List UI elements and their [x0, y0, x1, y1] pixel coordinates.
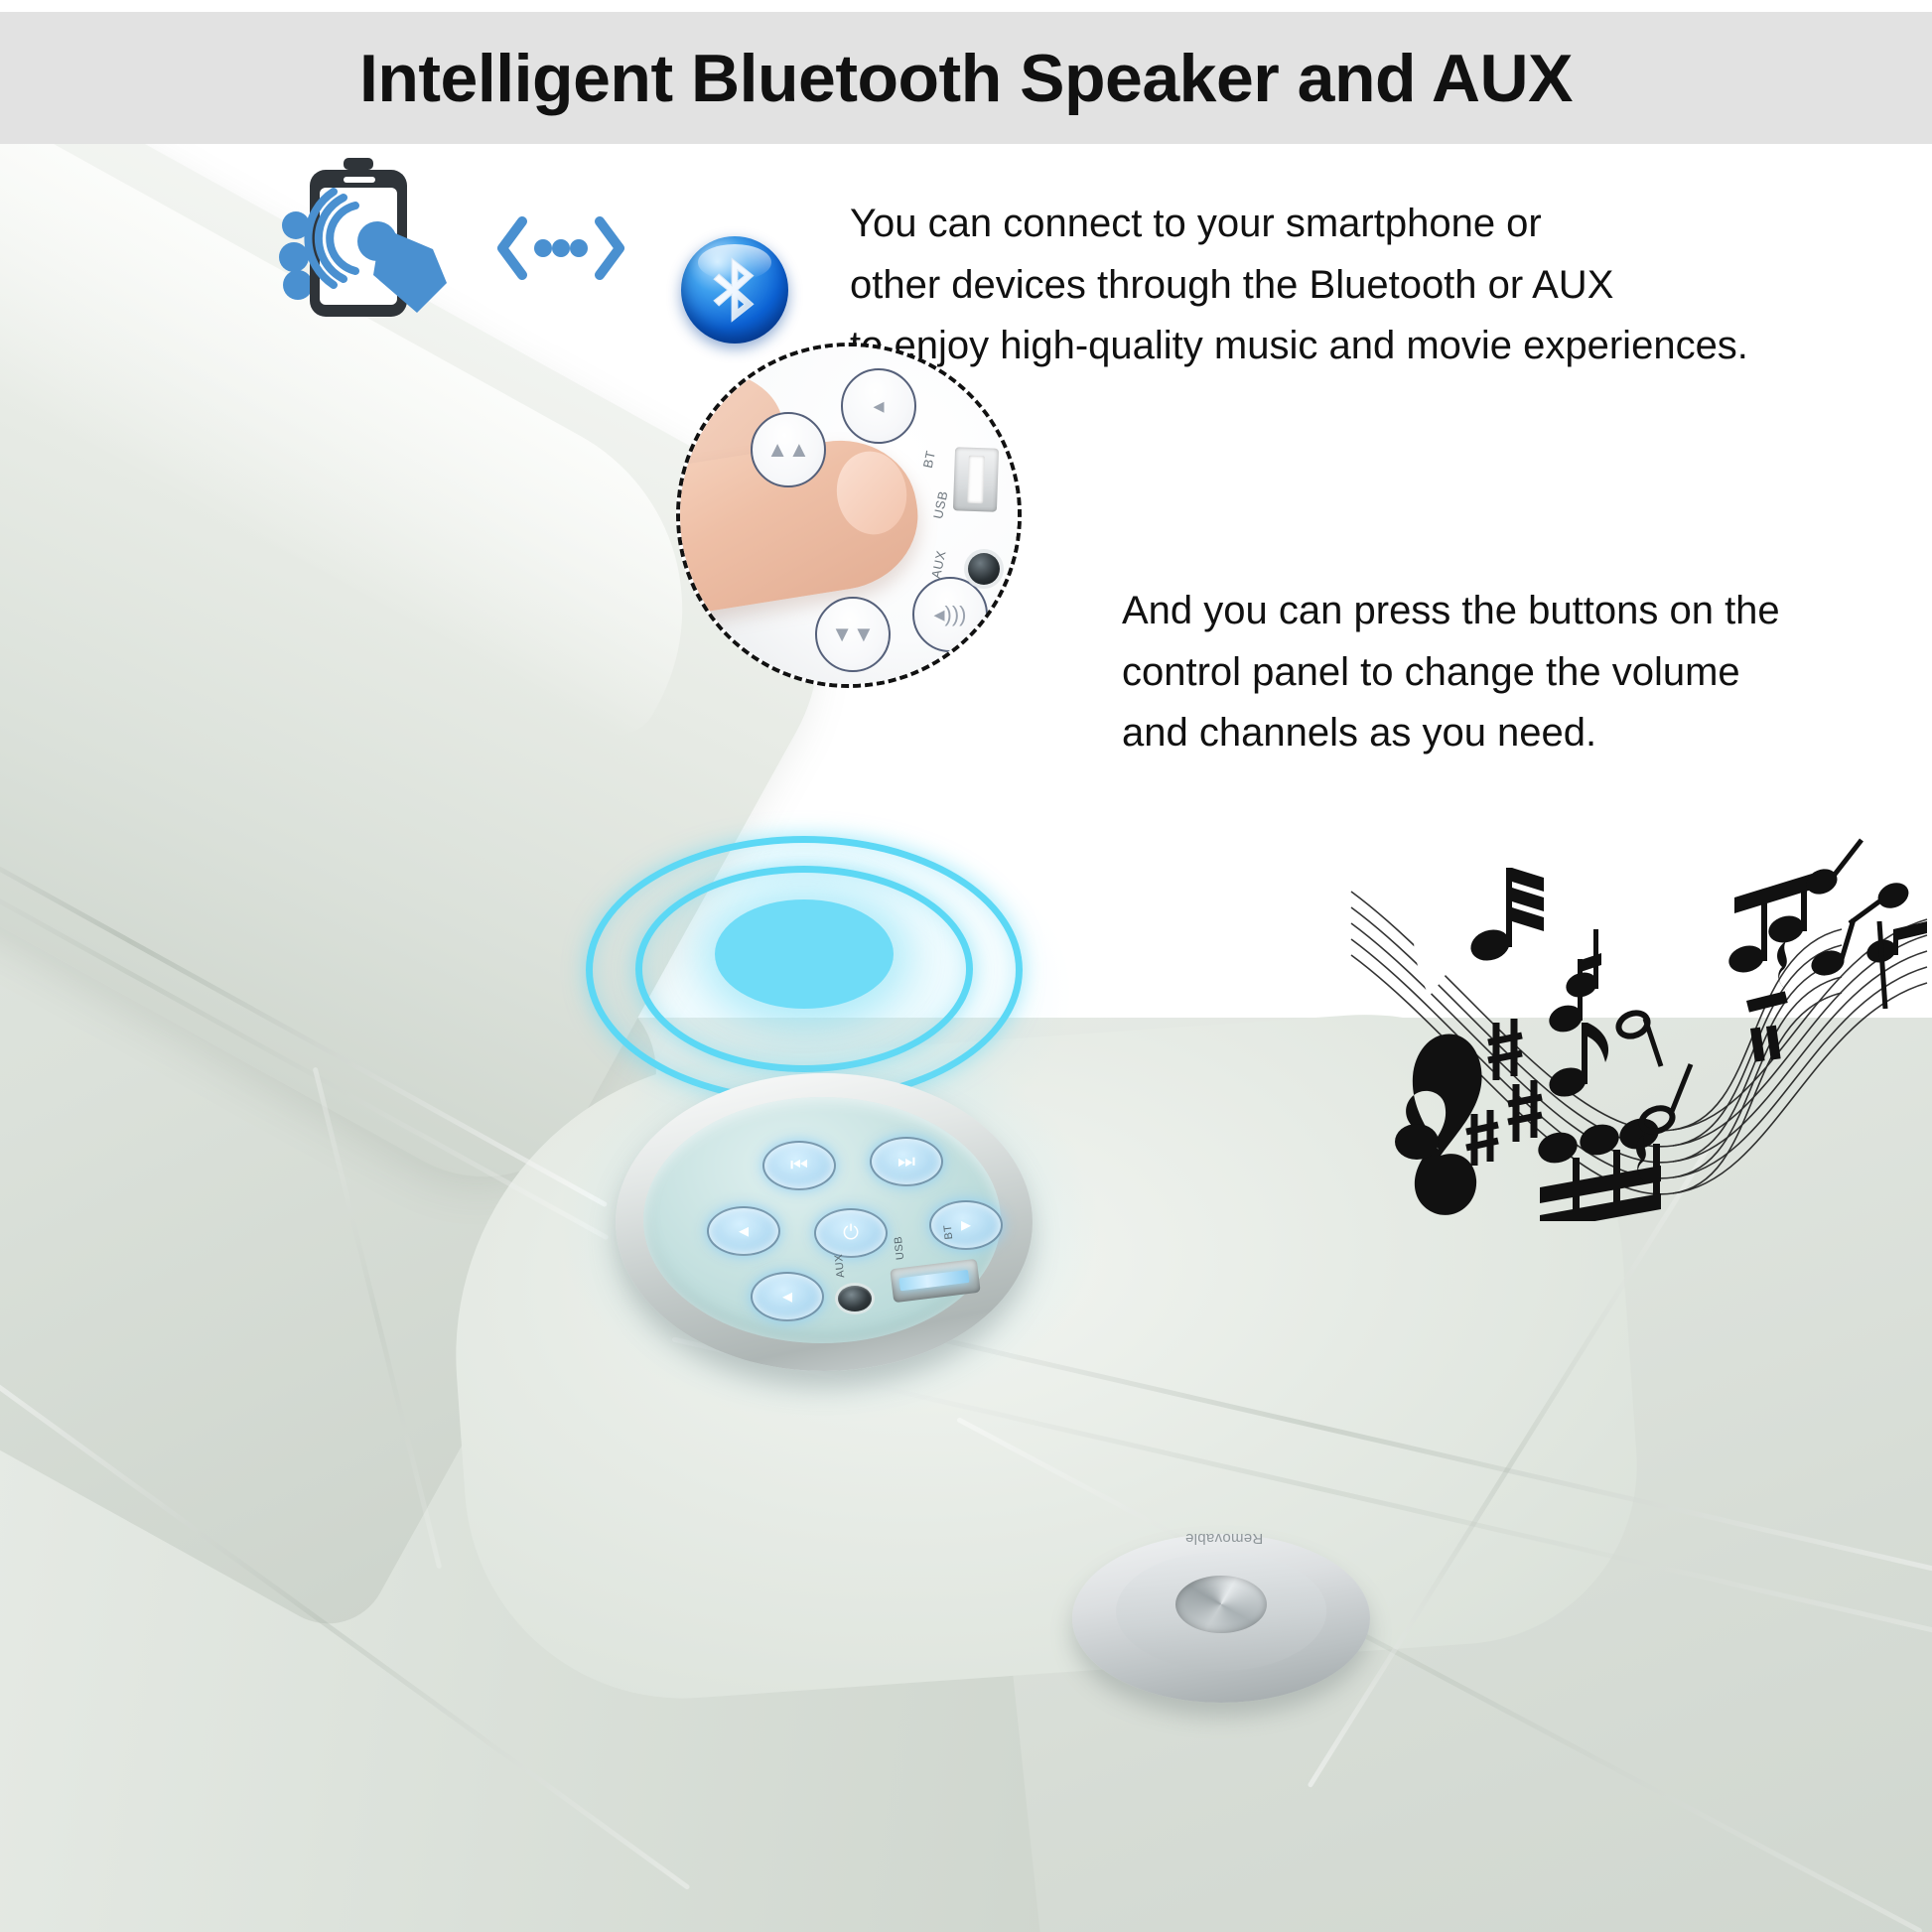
power-button[interactable]: ⏻	[814, 1208, 888, 1258]
cup-holder-label: Removable	[1150, 1530, 1299, 1547]
usb-label: USB	[893, 1235, 906, 1260]
bluetooth-logo-icon	[681, 236, 788, 344]
armrest-control-panel: ⏮ ⏭ ◂ ▸ ⏻ ◂ AUX USB BT	[616, 1057, 1042, 1385]
aux-jack-port[interactable]	[968, 553, 1000, 585]
bt-label: BT	[942, 1224, 956, 1240]
volume-up-button[interactable]: ▲▲	[751, 412, 826, 487]
aux-label: AUX	[833, 1253, 847, 1278]
feature-line: And you can press the buttons on the	[1122, 581, 1876, 642]
usb-port[interactable]	[953, 447, 999, 511]
volume-down-button[interactable]: ▼▼	[815, 597, 891, 672]
usb-port[interactable]	[890, 1259, 980, 1303]
header-band: Intelligent Bluetooth Speaker and AUX	[0, 12, 1932, 144]
aux-jack-port[interactable]	[838, 1286, 872, 1311]
music-staff-notes-icon	[1345, 834, 1931, 1221]
control-panel-closeup-inset: ▲▲ ◂ ▼▼ ◂))) BT USB AUX	[676, 343, 1022, 688]
feature-text-control-panel: And you can press the buttons on the con…	[1122, 581, 1876, 764]
volume-down-button[interactable]: ◂	[707, 1206, 780, 1256]
feature-line: other devices through the Bluetooth or A…	[850, 255, 1843, 317]
soundwave-core	[715, 899, 894, 1009]
smartphone-touch-icon	[278, 154, 467, 323]
previous-track-button[interactable]: ⏮	[762, 1141, 836, 1190]
next-track-button[interactable]: ⏭	[870, 1137, 943, 1186]
volume-up-button[interactable]: ▸	[929, 1200, 1003, 1250]
feature-line: You can connect to your smartphone or	[850, 194, 1843, 255]
removable-cup-holder[interactable]: Removable	[1072, 1534, 1370, 1723]
control-panel-bezel: ⏮ ⏭ ◂ ▸ ⏻ ◂ AUX USB BT	[616, 1073, 1033, 1371]
closeup-photo: ▲▲ ◂ ▼▼ ◂))) BT USB AUX	[676, 343, 1022, 688]
control-panel-face: ⏮ ⏭ ◂ ▸ ⏻ ◂ AUX USB BT	[643, 1097, 1001, 1343]
page-title: Intelligent Bluetooth Speaker and AUX	[359, 40, 1573, 117]
mode-button[interactable]: ◂	[751, 1272, 824, 1321]
speaker-mute-button[interactable]: ◂	[841, 368, 916, 444]
feature-line: and channels as you need.	[1122, 703, 1876, 764]
feature-line: control panel to change the volume	[1122, 642, 1876, 704]
connection-arrows-icon	[496, 213, 625, 283]
speaker-volume-button[interactable]: ◂)))	[912, 577, 988, 652]
cup-holder-hub	[1175, 1576, 1267, 1633]
